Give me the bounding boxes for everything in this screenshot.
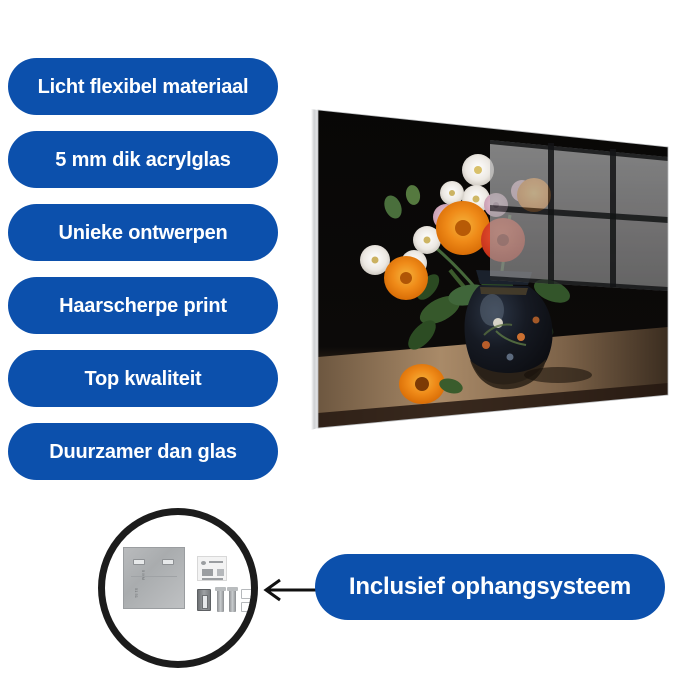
wall-plug <box>197 589 211 611</box>
feature-pill-label: Top kwaliteit <box>84 369 201 389</box>
mounting-hook-left <box>133 559 145 565</box>
screw-long <box>229 589 236 612</box>
mounting-plate: 5 MM 51 51 <box>123 547 185 609</box>
feature-pill-licht-flexibel-materiaal[interactable]: Licht flexibel materiaal <box>8 58 278 115</box>
feature-pill-haarscherpe-print[interactable]: Haarscherpe print <box>8 277 278 334</box>
feature-pill-duurzamer-dan-glas[interactable]: Duurzamer dan glas <box>8 423 278 480</box>
feature-pill-inclusief-ophangsysteem[interactable]: Inclusief ophangsysteem <box>315 554 665 620</box>
feature-pill-unieke-ontwerpen[interactable]: Unieke ontwerpen <box>8 204 278 261</box>
panel-edge-thickness <box>311 109 318 430</box>
feature-pill-5-mm-dik-acrylglas[interactable]: 5 mm dik acrylglas <box>8 131 278 188</box>
instruction-leaflet <box>197 556 227 581</box>
screw-short <box>217 589 224 612</box>
feature-pill-label: Licht flexibel materiaal <box>38 77 249 97</box>
acrylglas-print-panel <box>300 95 680 445</box>
panel-window-reflection <box>490 140 668 291</box>
feature-pill-label: Duurzamer dan glas <box>49 442 237 462</box>
mounting-kit-photo: 5 MM 51 51 <box>105 515 251 661</box>
panel-illustration <box>300 95 680 445</box>
plate-marking-primary: 5 MM <box>141 570 146 580</box>
feature-pill-top-kwaliteit[interactable]: Top kwaliteit <box>8 350 278 407</box>
feature-pill-label: 5 mm dik acrylglas <box>55 150 230 170</box>
panel-artwork <box>300 95 680 445</box>
plate-marking-secondary: 51 51 <box>134 588 139 598</box>
mounting-hook-right <box>162 559 174 565</box>
feature-pill-label: Inclusief ophangsysteem <box>349 575 631 599</box>
feature-pill-label: Unieke ontwerpen <box>58 223 227 243</box>
feature-pill-label: Haarscherpe print <box>59 296 227 316</box>
mounting-kit-circle: 5 MM 51 51 <box>98 508 258 668</box>
